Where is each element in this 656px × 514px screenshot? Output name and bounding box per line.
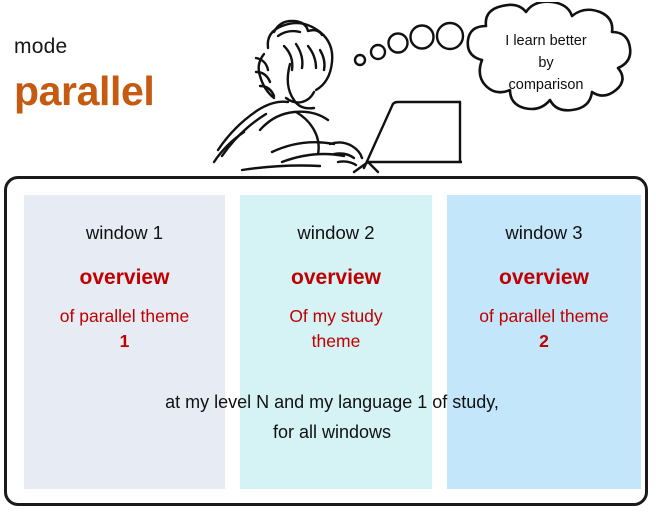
window-2-desc-number: theme: [244, 329, 428, 354]
window-3-description: of parallel theme 2: [447, 304, 641, 354]
window-2-description: Of my study theme: [240, 304, 432, 354]
window-1-overview: overview: [24, 265, 225, 291]
thought-bubble-line-3: comparison: [466, 74, 626, 96]
mode-label: mode: [14, 36, 67, 58]
window-2-overview: overview: [240, 265, 432, 291]
window-2-desc-text: Of my study: [289, 306, 382, 326]
window-column-1[interactable]: window 1 overview of parallel theme 1: [24, 195, 225, 489]
window-column-2[interactable]: window 2 overview Of my study theme: [240, 195, 432, 489]
thought-bubble-line-1: I learn better: [466, 30, 626, 52]
window-3-desc-text: of parallel theme: [479, 306, 608, 326]
thought-bubble-text: I learn better by comparison: [466, 30, 626, 96]
window-3-overview: overview: [447, 265, 641, 291]
window-column-3[interactable]: window 3 overview of parallel theme 2: [447, 195, 641, 489]
header: mode parallel: [0, 0, 656, 178]
window-1-desc-number: 1: [28, 329, 221, 354]
window-3-title: window 3: [447, 221, 641, 245]
window-1-desc-text: of parallel theme: [60, 306, 189, 326]
window-3-desc-number: 2: [451, 329, 637, 354]
window-2-title: window 2: [240, 221, 432, 245]
windows-panel-box: window 1 overview of parallel theme 1 wi…: [4, 176, 648, 506]
mode-value: parallel: [14, 68, 154, 114]
window-1-title: window 1: [24, 221, 225, 245]
window-1-description: of parallel theme 1: [24, 304, 225, 354]
thought-bubble-line-2: by: [466, 52, 626, 74]
